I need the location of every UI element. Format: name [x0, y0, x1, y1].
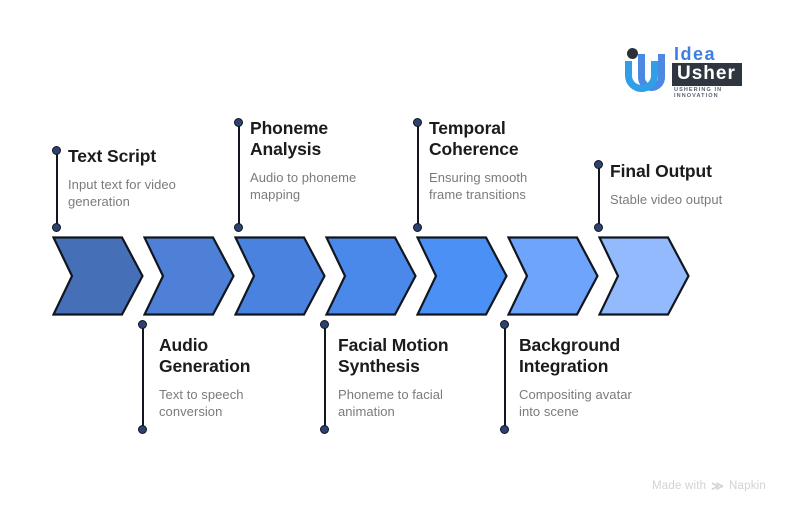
step-label-7: Final OutputStable video output	[610, 161, 722, 208]
chevron-step-3[interactable]	[234, 236, 326, 316]
connector-dot-top	[52, 146, 61, 155]
step-connector-5	[413, 118, 422, 232]
chevron-step-4[interactable]	[325, 236, 417, 316]
logo-tagline: USHERING IN INNOVATION	[674, 87, 766, 99]
step-title-7: Final Output	[610, 161, 722, 182]
connector-dot-bottom	[500, 425, 509, 434]
connector-dot-top	[500, 320, 509, 329]
footer-brand-text: Napkin	[729, 480, 766, 492]
step-description-3: Audio to phoneme mapping	[250, 169, 356, 203]
step-title-5: Temporal Coherence	[429, 118, 527, 160]
chevron-flow-row	[52, 236, 692, 316]
logo-u-mark-icon	[624, 48, 666, 92]
connector-dot-bottom	[320, 425, 329, 434]
step-title-2: Audio Generation	[159, 335, 250, 377]
step-connector-1	[52, 146, 61, 232]
chevron-step-7[interactable]	[598, 236, 690, 316]
connector-dot-bottom	[52, 223, 61, 232]
made-with-napkin-footer: Made with ≫ Napkin	[652, 479, 766, 493]
step-connector-4	[320, 320, 329, 434]
connector-dot-bottom	[594, 223, 603, 232]
step-description-4: Phoneme to facial animation	[338, 386, 449, 420]
chevron-step-1[interactable]	[52, 236, 144, 316]
step-label-6: Background IntegrationCompositing avatar…	[519, 335, 632, 420]
connector-dot-top	[320, 320, 329, 329]
step-description-7: Stable video output	[610, 191, 722, 208]
connector-line	[504, 324, 506, 430]
step-connector-7	[594, 160, 603, 232]
step-label-2: Audio GenerationText to speech conversio…	[159, 335, 250, 420]
connector-line	[56, 150, 58, 228]
logo-word-idea: Idea	[674, 44, 716, 65]
step-description-5: Ensuring smooth frame transitions	[429, 169, 527, 203]
connector-line	[238, 122, 240, 228]
footer-made-with-text: Made with	[652, 480, 706, 492]
connector-line	[598, 164, 600, 228]
connector-dot-top	[413, 118, 422, 127]
connector-dot-top	[234, 118, 243, 127]
step-description-6: Compositing avatar into scene	[519, 386, 632, 420]
connector-dot-top	[138, 320, 147, 329]
connector-dot-bottom	[234, 223, 243, 232]
connector-dot-bottom	[138, 425, 147, 434]
connector-dot-bottom	[413, 223, 422, 232]
chevron-step-6[interactable]	[507, 236, 599, 316]
step-title-4: Facial Motion Synthesis	[338, 335, 449, 377]
idea-usher-logo: Idea Usher USHERING IN INNOVATION	[624, 42, 766, 97]
connector-line	[324, 324, 326, 430]
step-title-3: Phoneme Analysis	[250, 118, 356, 160]
step-label-4: Facial Motion SynthesisPhoneme to facial…	[338, 335, 449, 420]
step-connector-3	[234, 118, 243, 232]
step-description-1: Input text for video generation	[68, 176, 176, 210]
step-title-1: Text Script	[68, 146, 176, 167]
step-label-1: Text ScriptInput text for video generati…	[68, 146, 176, 210]
step-label-3: Phoneme AnalysisAudio to phoneme mapping	[250, 118, 356, 203]
connector-line	[142, 324, 144, 430]
step-label-5: Temporal CoherenceEnsuring smooth frame …	[429, 118, 527, 203]
napkin-chevrons-icon: ≫	[711, 479, 724, 493]
step-title-6: Background Integration	[519, 335, 632, 377]
step-connector-6	[500, 320, 509, 434]
logo-word-usher: Usher	[672, 63, 742, 86]
chevron-step-2[interactable]	[143, 236, 235, 316]
connector-dot-top	[594, 160, 603, 169]
step-description-2: Text to speech conversion	[159, 386, 250, 420]
step-connector-2	[138, 320, 147, 434]
chevron-step-5[interactable]	[416, 236, 508, 316]
connector-line	[417, 122, 419, 228]
logo-dot-icon	[627, 48, 638, 59]
